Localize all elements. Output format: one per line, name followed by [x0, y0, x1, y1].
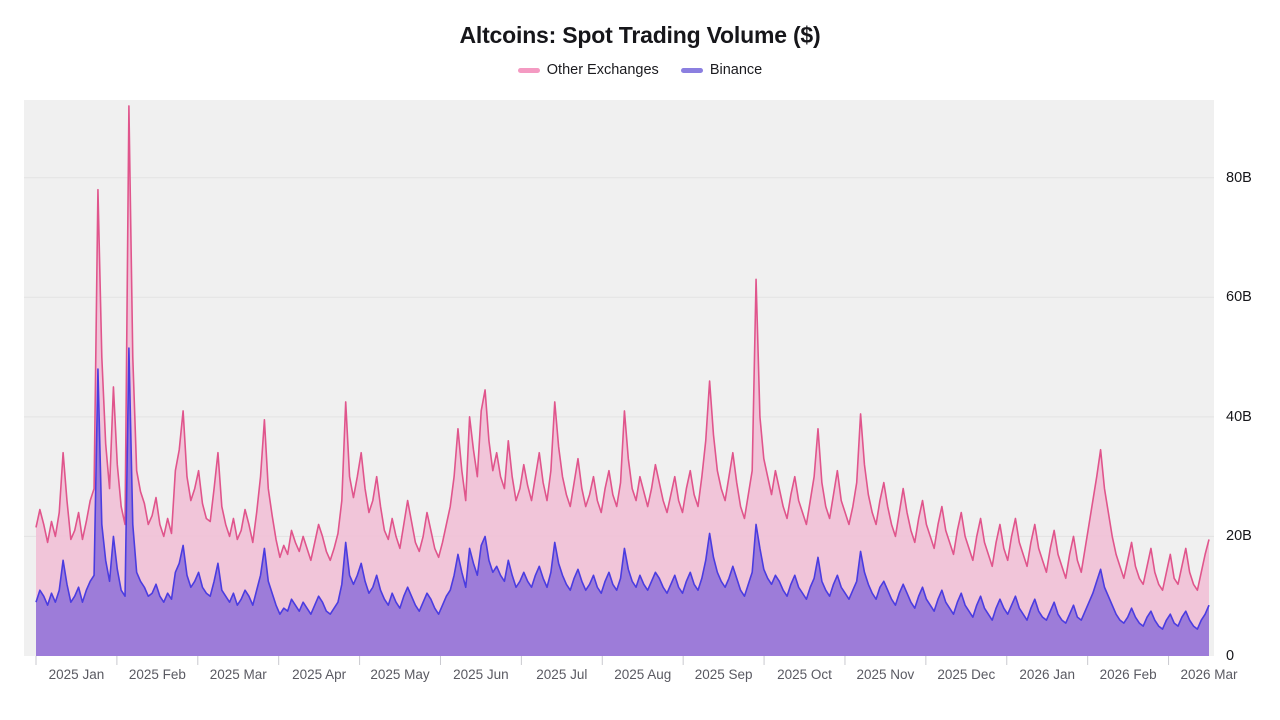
x-axis-tick-label: 2025 Jun: [453, 667, 509, 682]
x-axis-tick-label: 2026 Feb: [1100, 667, 1157, 682]
x-axis-tick-label: 2025 Aug: [614, 667, 671, 682]
y-axis-tick-label: 0: [1226, 648, 1234, 664]
x-axis-tick-label: 2025 Feb: [129, 667, 186, 682]
x-axis-tick-label: 2025 Jan: [49, 667, 105, 682]
y-axis-tick-label: 20B: [1226, 528, 1252, 544]
x-axis-tick-label: 2026 Mar: [1180, 667, 1237, 682]
x-axis-tick-label: 2025 Sep: [695, 667, 753, 682]
plot-area: 020B40B60B80B 2025 Jan2025 Feb2025 Mar20…: [0, 0, 1280, 720]
x-axis-tick-label: 2025 Dec: [937, 667, 995, 682]
x-axis-tick-label: 2025 Mar: [210, 667, 267, 682]
x-axis-tick-label: 2026 Jan: [1019, 667, 1075, 682]
y-axis-tick-label: 80B: [1226, 170, 1252, 186]
x-axis-tick-label: 2025 May: [370, 667, 429, 682]
x-axis-tick-label: 2025 Oct: [777, 667, 832, 682]
chart-container: Altcoins: Spot Trading Volume ($) Other …: [0, 0, 1280, 720]
x-axis-tick-label: 2025 Nov: [857, 667, 915, 682]
x-axis-tick-label: 2025 Apr: [292, 667, 346, 682]
y-axis-tick-label: 60B: [1226, 289, 1252, 305]
y-axis-tick-label: 40B: [1226, 409, 1252, 425]
chart-svg: [0, 0, 1280, 720]
x-axis-tick-label: 2025 Jul: [536, 667, 587, 682]
